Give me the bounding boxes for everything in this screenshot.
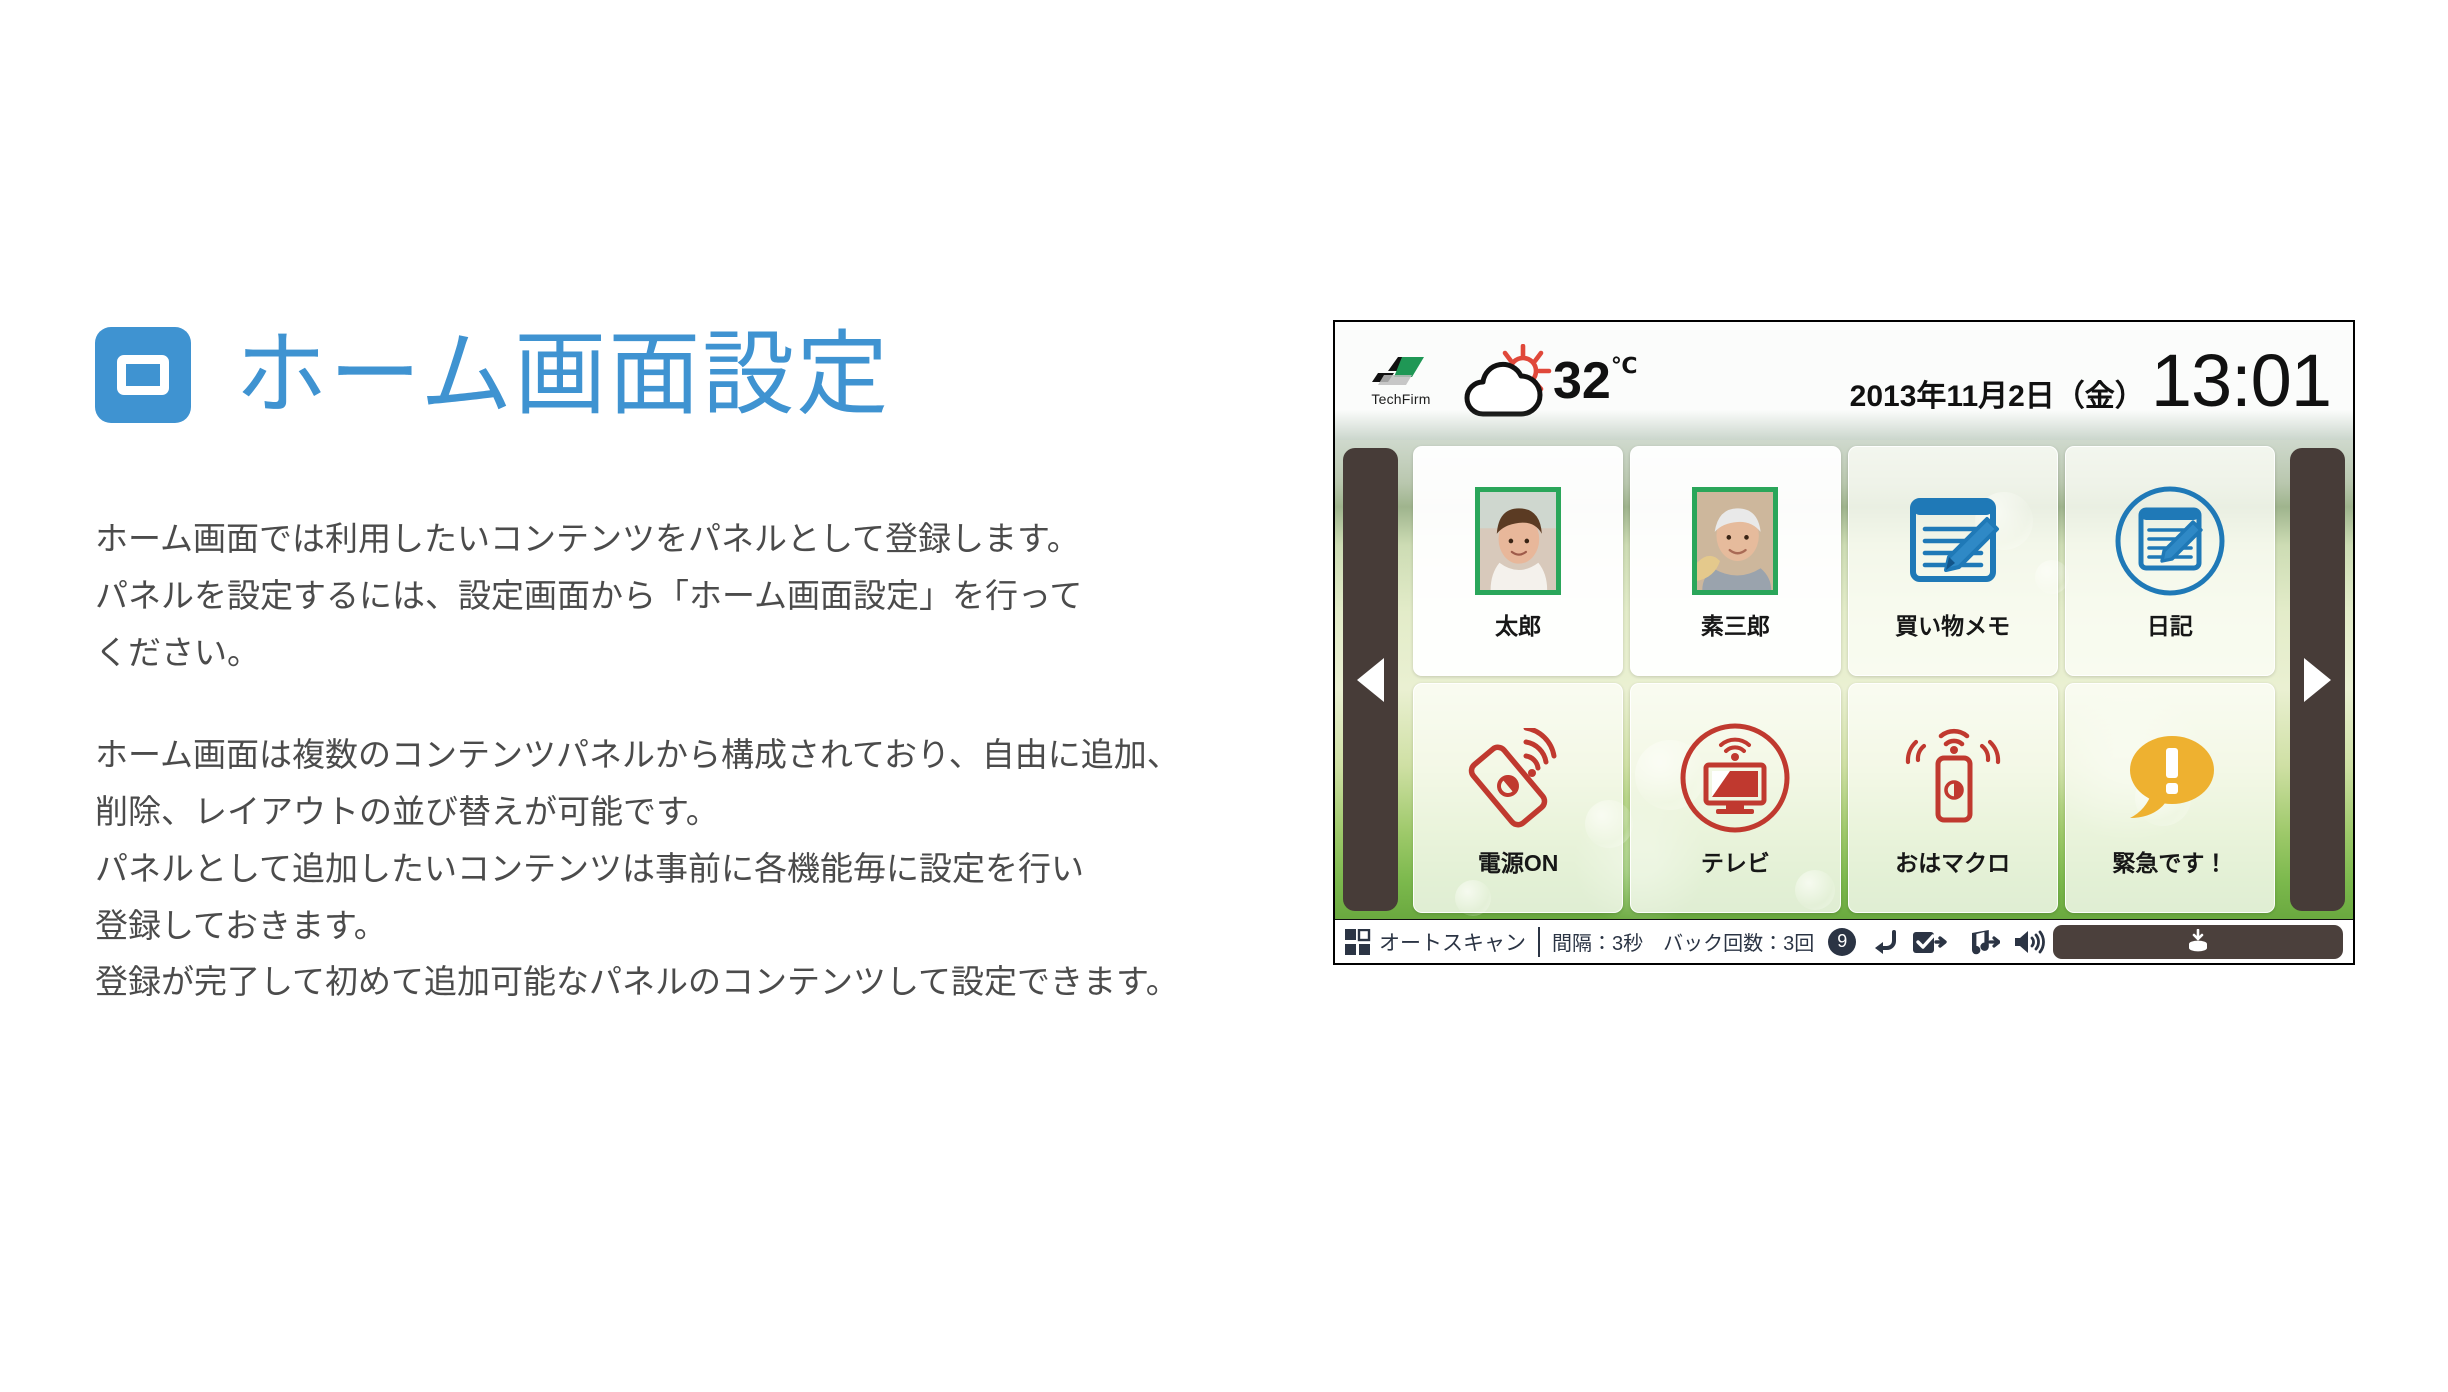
photo-child-avatar [1475,481,1561,601]
left-triangle-icon [1357,658,1384,702]
notepad-pencil-circle-glyph [2111,484,2229,598]
download-tray-icon [2185,929,2211,955]
music-note-arrow-icon[interactable] [1962,928,2000,956]
auto-scan-label[interactable]: オートスキャン [1379,927,1526,957]
right-triangle-icon [2304,658,2331,702]
home-panel-taro[interactable]: 太郎 [1413,446,1623,676]
status-badge: 9 [1828,928,1856,956]
prev-page-button[interactable] [1343,448,1398,911]
temperature-value: 32℃ [1553,355,1637,407]
body-line: パネルとして追加したいコンテンツは事前に各機能毎に設定を行い [95,841,1285,898]
home-panel-label: 日記 [2147,607,2193,641]
body-line: ホーム画面では利用したいコンテンツをパネルとして登録します。 [95,511,1285,568]
home-panel-emergency[interactable]: 緊急です！ [2065,683,2275,913]
date-display: 2013年11月2日（金） [1850,371,2145,415]
checkbox-arrow-icon[interactable] [1912,928,1950,956]
body-line: ください。 [95,625,1285,682]
home-panel-power-on[interactable]: 電源ON [1413,683,1623,913]
home-panel-oha-macro[interactable]: おはマクロ [1848,683,2058,913]
home-panel-tv[interactable]: テレビ [1630,683,1840,913]
date-time-widget: 2013年11月2日（金） 13:01 [1850,346,2353,416]
body-line: パネルを設定するには、設定画面から「ホーム画面設定」を行って [95,568,1285,625]
techfirm-logo-text: TechFirm [1357,391,1445,407]
sun-behind-cloud-icon [1459,344,1559,418]
device-status-bar: オートスキャン 間隔：3秒 バック回数：3回 9 [1335,919,2353,963]
return-arrow-icon[interactable] [1868,928,1900,956]
home-panel-label: 電源ON [1478,844,1559,878]
clock-display: 13:01 [2151,346,2331,416]
tv-signal-circle-glyph [1676,721,1794,835]
body-line: 登録が完了して初めて追加可能なパネルのコンテンツして設定できます。 [95,954,1285,1011]
techfirm-logo-icon [1372,355,1430,389]
macro-remote-signal-icon [1894,718,2012,838]
download-button[interactable] [2053,925,2343,959]
notepad-pencil-circle-icon [2111,481,2229,601]
home-panel-label: 素三郎 [1701,607,1770,641]
home-panel-shopping-memo[interactable]: 買い物メモ [1848,446,2058,676]
page-title: ホーム画面設定 [235,329,890,421]
home-panel-grid: 太郎 素三郎 [1413,446,2275,913]
device-header: TechFirm 32℃ 2013年11月2日（金） 13:01 [1335,322,2353,440]
home-panel-label: テレビ [1701,844,1770,878]
status-divider [1538,927,1540,957]
notepad-pencil-glyph [1901,493,2005,589]
home-screen-icon-inner [117,355,169,395]
home-panel-sosaburo[interactable]: 素三郎 [1630,446,1840,676]
home-panel-label: 買い物メモ [1895,607,2010,641]
notepad-pencil-icon [1901,481,2005,601]
photo-elder-avatar-image [1692,487,1778,595]
remote-signal-glyph [1462,728,1574,828]
tv-signal-circle-icon [1676,718,1794,838]
weather-widget: 32℃ [1459,344,1637,418]
next-page-button[interactable] [2290,448,2345,911]
body-line: ホーム画面は複数のコンテンツパネルから構成されており、自由に追加、 [95,727,1285,784]
device-screenshot: TechFirm 32℃ 2013年11月2日（金） 13:01 [1333,320,2355,965]
device-home-body: 太郎 素三郎 [1335,440,2353,919]
techfirm-logo: TechFirm [1357,355,1445,407]
page-title-row: ホーム画面設定 [95,305,1285,445]
slide-body: ホーム画面では利用したいコンテンツをパネルとして登録します。 パネルを設定するに… [95,511,1285,1011]
slide-content: ホーム画面設定 ホーム画面では利用したいコンテンツをパネルとして登録します。 パ… [95,305,1285,1011]
home-screen-icon [95,327,191,423]
paragraph-spacer [95,681,1285,727]
body-line: 削除、レイアウトの並び替えが可能です。 [95,784,1285,841]
photo-child-avatar-image [1475,487,1561,595]
home-panel-label: おはマクロ [1895,844,2010,878]
home-panel-label: 太郎 [1495,607,1541,641]
grid-icon[interactable] [1345,929,1371,955]
remote-signal-icon [1462,718,1574,838]
speaker-volume-icon[interactable] [2012,928,2046,956]
alert-speech-bubble-glyph [2114,728,2226,828]
body-line: 登録しておきます。 [95,898,1285,955]
temperature-unit: ℃ [1611,353,1638,378]
home-panel-diary[interactable]: 日記 [2065,446,2275,676]
macro-remote-signal-glyph [1894,728,2012,828]
home-panel-label: 緊急です！ [2112,844,2227,878]
scan-params: 間隔：3秒 バック回数：3回 [1552,927,1814,956]
alert-speech-bubble-icon [2114,718,2226,838]
photo-elder-avatar [1692,481,1778,601]
